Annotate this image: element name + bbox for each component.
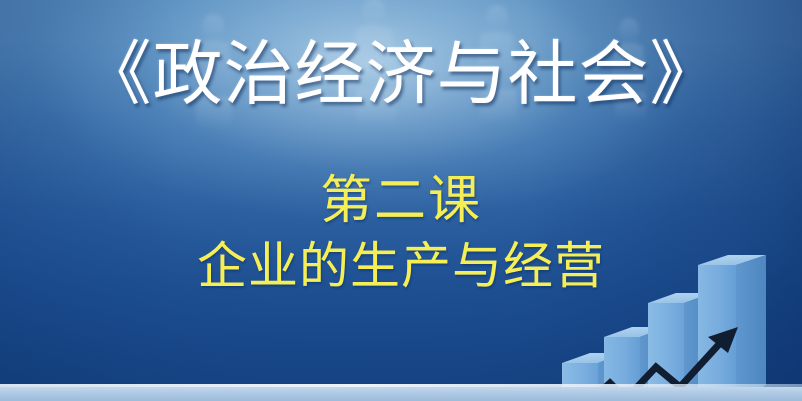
lesson-number: 第二课: [0, 172, 802, 230]
slide-title: 《政治经济与社会》: [0, 41, 802, 111]
slide-subtitle: 第二课 企业的生产与经营: [0, 172, 802, 294]
floor-band: [0, 387, 802, 401]
lesson-title: 企业的生产与经营: [0, 238, 802, 294]
presentation-slide: 《政治经济与社会》 第二课 企业的生产与经营: [0, 0, 802, 401]
